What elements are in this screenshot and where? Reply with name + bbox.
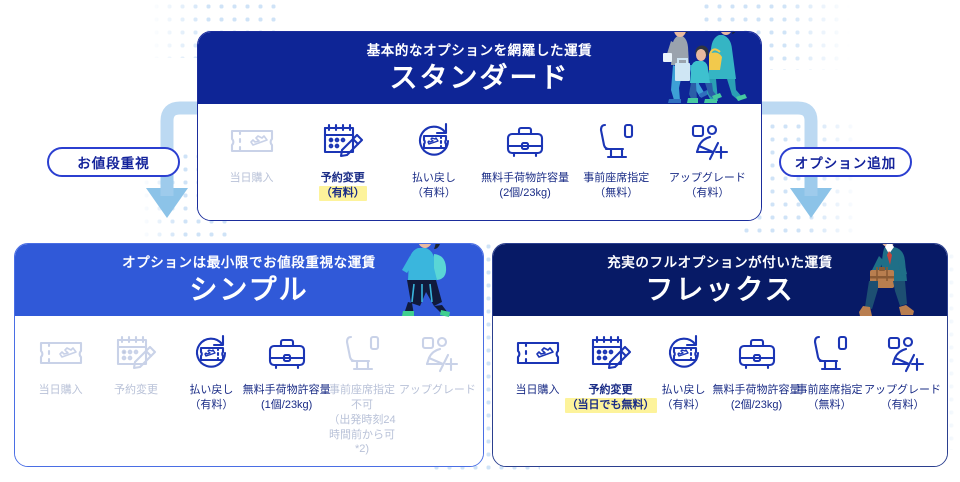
ticket-icon <box>515 330 561 376</box>
fare-card-standard[interactable]: 基本的なオプションを網羅した運賃 スタンダード <box>197 31 762 221</box>
feature-sublabel-wrap: （有料） <box>319 186 367 201</box>
feature-label: 事前座席指定 <box>583 171 649 186</box>
feature-label: 当日購入 <box>230 171 274 186</box>
feature-item: 当日購入 <box>501 330 574 398</box>
refund-ticket-icon <box>189 330 233 376</box>
feature-item: 無料手荷物許容量(1個/23kg) <box>249 330 324 413</box>
feature-row-simple: 当日購入 予約変更 払い戻し（有料） 無料手荷物許容量(1個/23kg) <box>15 316 483 467</box>
feature-item: 無料手荷物許容量(2個/23kg) <box>480 118 571 201</box>
feature-item: アップグレード <box>400 330 475 398</box>
feature-label: 当日購入 <box>516 383 560 398</box>
card-header-flex: 充実のフルオプションが付いた運賃 フレックス <box>493 244 947 316</box>
feature-label: アップグレード <box>864 383 941 398</box>
fare-card-simple[interactable]: オプションは最小限でお値段重視な運賃 シンプル <box>14 243 484 467</box>
feature-label: 当日購入 <box>39 383 83 398</box>
feature-label: アップグレード <box>399 383 476 398</box>
feature-row-flex: 当日購入 予約変更（当日でも無料） 払い戻し（有料） 無料手荷物許容量(2個/2… <box>493 316 947 467</box>
feature-sublabel: （当日でも無料） <box>565 398 657 413</box>
feature-item: 事前座席指定（無料） <box>571 118 662 201</box>
feature-sublabel-wrap: （有料） <box>412 186 456 201</box>
feature-sublabel-wrap: （有料） <box>189 398 233 413</box>
calendar-edit-icon <box>113 330 159 376</box>
feature-label: 無料手荷物許容量 <box>713 383 801 398</box>
feature-sublabel-wrap: （無料） <box>808 398 852 413</box>
pill-left-text: お値段重視 <box>77 152 150 172</box>
feature-sublabel: （無料） <box>808 398 852 413</box>
refund-ticket-icon <box>412 118 456 164</box>
feature-item: 予約変更 <box>98 330 173 398</box>
pill-right-text: オプション追加 <box>795 152 897 172</box>
feature-label: 払い戻し <box>412 171 456 186</box>
feature-sublabel: （無料） <box>594 186 638 201</box>
calendar-edit-icon <box>320 118 366 164</box>
feature-item: 予約変更（当日でも無料） <box>574 330 647 413</box>
feature-label: 予約変更 <box>114 383 158 398</box>
feature-item: 予約変更（有料） <box>297 118 388 201</box>
feature-label: 予約変更 <box>589 383 633 398</box>
upgrade-seat-icon <box>881 330 925 376</box>
calendar-edit-icon <box>588 330 634 376</box>
feature-sublabel: (2個/23kg) <box>499 186 550 201</box>
feature-sublabel: （有料） <box>189 398 233 413</box>
feature-item: 払い戻し（有料） <box>174 330 249 413</box>
feature-sublabel: （有料） <box>881 398 925 413</box>
card-header-standard: 基本的なオプションを網羅した運賃 スタンダード <box>198 32 761 104</box>
feature-sublabel-wrap: 不可 <box>351 398 373 413</box>
seat-icon <box>341 330 383 376</box>
feature-sublabel: 不可 <box>351 398 373 413</box>
seat-icon <box>809 330 851 376</box>
feature-label: 事前座席指定 <box>797 383 863 398</box>
upgrade-seat-icon <box>415 330 459 376</box>
card-subtitle: オプションは最小限でお値段重視な運賃 <box>122 256 376 270</box>
feature-item: 事前座席指定不可（出発時刻24時間前から可 *2) <box>324 330 399 457</box>
suitcase-icon <box>264 330 310 376</box>
feature-sublabel-wrap: (2個/23kg) <box>731 398 782 413</box>
feature-sublabel: （有料） <box>319 186 367 201</box>
feature-label: 事前座席指定 <box>329 383 395 398</box>
feature-row-standard: 当日購入 予約変更（有料） 払い戻し（有料） 無料手荷物許容量(2個/23kg) <box>198 104 761 221</box>
feature-sublabel: (1個/23kg) <box>261 398 312 413</box>
woman-backpack-walking-illustration <box>381 243 473 318</box>
card-subtitle: 充実のフルオプションが付いた運賃 <box>607 256 833 270</box>
family-walking-illustration <box>647 31 762 105</box>
feature-sublabel: （有料） <box>662 398 706 413</box>
label-pill-add-options: オプション追加 <box>779 147 912 177</box>
label-pill-value-focus: お値段重視 <box>47 147 180 177</box>
seat-icon <box>595 118 637 164</box>
feature-item: 事前座席指定（無料） <box>793 330 866 413</box>
feature-sublabel-wrap: (1個/23kg) <box>261 398 312 413</box>
feature-sublabel-wrap: （有料） <box>685 186 729 201</box>
feature-item: アップグレード（有料） <box>662 118 753 201</box>
feature-label: 予約変更 <box>321 171 365 186</box>
feature-item: 払い戻し（有料） <box>388 118 479 201</box>
feature-label: アップグレード <box>669 171 746 186</box>
refund-ticket-icon <box>662 330 706 376</box>
feature-label: 無料手荷物許容量 <box>243 383 331 398</box>
ticket-icon <box>229 118 275 164</box>
card-subtitle: 基本的なオプションを網羅した運賃 <box>367 44 593 58</box>
feature-item: 無料手荷物許容量(2個/23kg) <box>720 330 793 413</box>
feature-label: 払い戻し <box>662 383 706 398</box>
businessman-walking-illustration <box>841 243 933 318</box>
feature-item: 当日購入 <box>23 330 98 398</box>
feature-sublabel-wrap: （当日でも無料） <box>565 398 657 413</box>
feature-sublabel-wrap: （有料） <box>881 398 925 413</box>
feature-sublabel: （有料） <box>412 186 456 201</box>
feature-label: 無料手荷物許容量 <box>481 171 569 186</box>
feature-item: アップグレード（有料） <box>866 330 939 413</box>
feature-sublabel: （有料） <box>685 186 729 201</box>
feature-sublabel: (2個/23kg) <box>731 398 782 413</box>
feature-sublabel-wrap: （有料） <box>662 398 706 413</box>
card-title: スタンダード <box>389 64 569 92</box>
suitcase-icon <box>734 330 780 376</box>
feature-sublabel-wrap: (2個/23kg) <box>499 186 550 201</box>
feature-item: 当日購入 <box>206 118 297 186</box>
fare-card-flex[interactable]: 充実のフルオプションが付いた運賃 フレックス <box>492 243 948 467</box>
card-title: シンプル <box>189 276 308 304</box>
upgrade-seat-icon <box>685 118 729 164</box>
suitcase-icon <box>502 118 548 164</box>
feature-note: （出発時刻24時間前から可 *2) <box>324 413 399 458</box>
card-header-simple: オプションは最小限でお値段重視な運賃 シンプル <box>15 244 483 316</box>
feature-sublabel-wrap: （無料） <box>594 186 638 201</box>
feature-item: 払い戻し（有料） <box>647 330 720 413</box>
infographic-canvas: お値段重視 オプション追加 基本的なオプションを網羅した運賃 スタンダード <box>0 0 960 482</box>
feature-label: 払い戻し <box>189 383 233 398</box>
ticket-icon <box>38 330 84 376</box>
card-title: フレックス <box>645 276 794 304</box>
